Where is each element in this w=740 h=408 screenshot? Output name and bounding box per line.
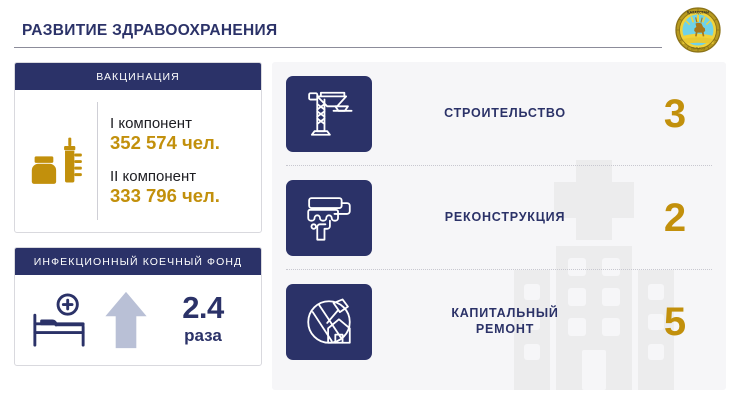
facility-row-reconstruction[interactable]: РЕКОНСТРУКЦИЯ 2 — [286, 166, 712, 270]
facility-value-capital-repair: 5 — [638, 302, 712, 342]
facility-label-capital-repair: КАПИТАЛЬНЫЙ РЕМОНТ — [372, 306, 638, 337]
bed-fund-card: ИНФЕКЦИОННЫЙ КОЕЧНЫЙ ФОНД — [14, 247, 262, 366]
up-arrow-icon — [95, 290, 157, 350]
facilities-rows: СТРОИТЕЛЬСТВО 3 РЕКОНСТРУКЦИЯ 2 — [272, 62, 726, 374]
facility-value-construction: 3 — [638, 94, 712, 134]
hammer-house-icon — [286, 284, 372, 360]
component-1-label: I компонент — [110, 115, 255, 133]
vaccination-card-body: I компонент 352 574 чел. II компонент 33… — [15, 90, 261, 232]
bed-fund-unit: раза — [157, 325, 249, 347]
component-2-label: II компонент — [110, 168, 255, 186]
facility-label-reconstruction: РЕКОНСТРУКЦИЯ — [372, 210, 638, 226]
svg-text:ОБЛЫСЫ: ОБЛЫСЫ — [691, 47, 706, 51]
facility-row-capital-repair[interactable]: КАПИТАЛЬНЫЙ РЕМОНТ 5 — [286, 270, 712, 374]
title-divider — [14, 47, 662, 48]
vaccination-component-1: I компонент 352 574 чел. — [110, 115, 255, 155]
bed-fund-value: 2.4 — [157, 292, 249, 323]
facility-label-construction: СТРОИТЕЛЬСТВО — [372, 106, 638, 122]
vaccination-component-2: II компонент 333 796 чел. — [110, 168, 255, 208]
vaccination-card: ВАКЦИНАЦИЯ — [14, 62, 262, 233]
bed-fund-card-body: 2.4 раза — [15, 275, 261, 365]
bed-fund-card-header: ИНФЕКЦИОННЫЙ КОЕЧНЫЙ ФОНД — [15, 248, 261, 275]
vaccination-stats: I компонент 352 574 чел. II компонент 33… — [98, 115, 255, 208]
component-1-value: 352 574 чел. — [110, 132, 255, 154]
facilities-panel: СТРОИТЕЛЬСТВО 3 РЕКОНСТРУКЦИЯ 2 — [272, 62, 726, 390]
facility-row-construction[interactable]: СТРОИТЕЛЬСТВО 3 — [286, 62, 712, 166]
vaccine-vial-syringe-icon — [19, 132, 97, 190]
left-column: ВАКЦИНАЦИЯ — [14, 62, 262, 366]
svg-text:ҚАЗАҚСТАН: ҚАЗАҚСТАН — [687, 11, 709, 15]
regional-emblem-logo: ҚАЗАҚСТАН ОБЛЫСЫ — [674, 6, 722, 54]
bed-fund-stats: 2.4 раза — [157, 292, 253, 347]
construction-crane-icon — [286, 76, 372, 152]
page-title: РАЗВИТИЕ ЗДРАВООХРАНЕНИЯ — [22, 22, 277, 40]
paint-roller-icon — [286, 180, 372, 256]
vaccination-card-header: ВАКЦИНАЦИЯ — [15, 63, 261, 90]
hospital-bed-icon — [23, 292, 95, 348]
facility-value-reconstruction: 2 — [638, 198, 712, 238]
component-2-value: 333 796 чел. — [110, 185, 255, 207]
page-header: РАЗВИТИЕ ЗДРАВООХРАНЕНИЯ — [0, 0, 740, 56]
